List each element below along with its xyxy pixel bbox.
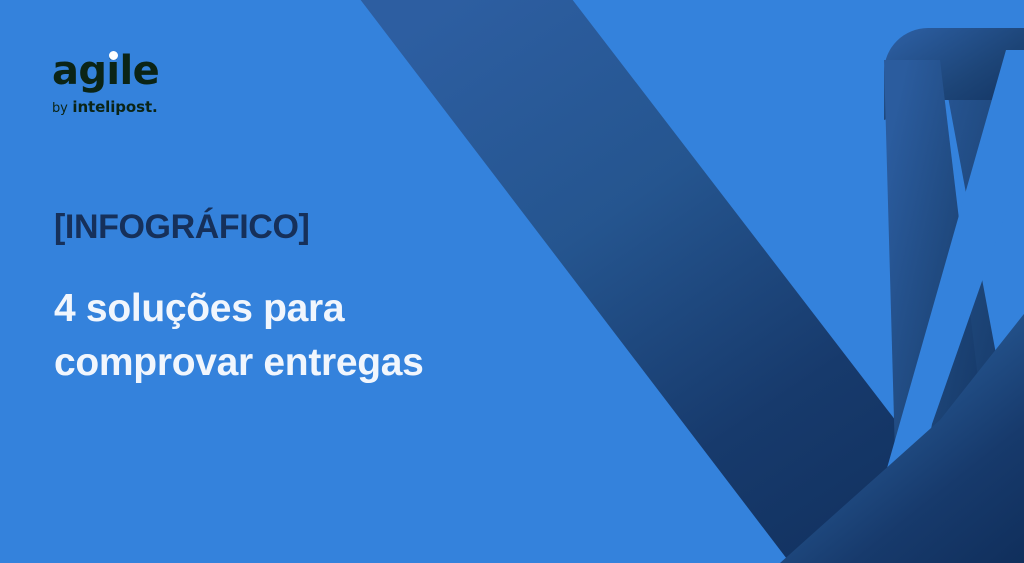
arrow-limb-ascending (892, 39, 1024, 563)
page-title-line-1: 4 soluções para (54, 282, 594, 336)
cover-canvas: agile by intelipost. [INFOGRÁFICO] 4 sol… (0, 0, 1024, 563)
page-title: 4 soluções para comprovar entregas (54, 282, 594, 390)
brand-byline-name: intelipost. (72, 98, 157, 116)
page-title-line-2: comprovar entregas (54, 336, 594, 390)
brand-byline: by intelipost. (52, 99, 292, 117)
brand-byline-prefix: by (52, 101, 68, 116)
arrow-vertex-fill (780, 300, 1024, 563)
arrow-inner-notch (860, 50, 1024, 563)
brand-logo: agile by intelipost. (52, 50, 292, 117)
logo-dot-icon (109, 51, 118, 60)
eyebrow-label: [INFOGRÁFICO] (54, 207, 594, 247)
brand-wordmark: agile (52, 50, 159, 92)
brand-wordmark-text: agile (52, 48, 159, 94)
arrow-elbow-cap (884, 28, 1024, 120)
arrow-limb-right-vertical (884, 60, 1000, 563)
headline-block: [INFOGRÁFICO] 4 soluções para comprovar … (54, 207, 594, 390)
